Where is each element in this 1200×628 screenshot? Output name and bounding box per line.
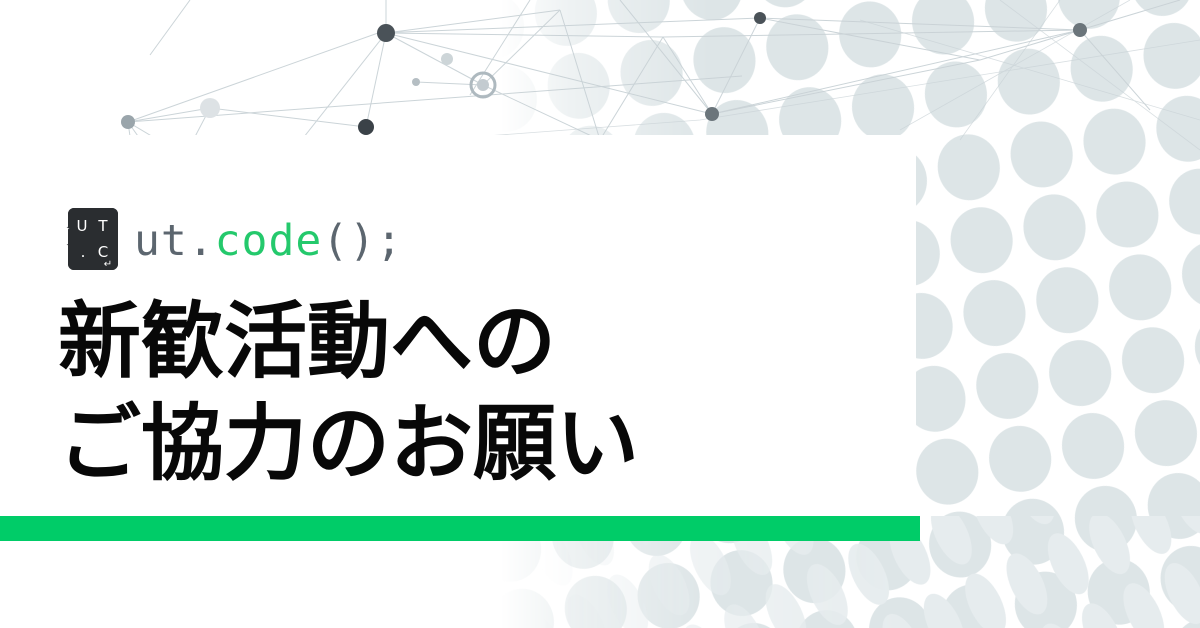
ogp-card: U T . C ↵ ut.code(); 新歓活動への ご協力のお願い	[0, 0, 1200, 628]
wordmark-prefix: ut.	[134, 216, 215, 266]
logo-letter-t: T	[97, 217, 108, 235]
logo-letter-dot: .	[81, 243, 86, 261]
wordmark-highlight: code	[215, 216, 323, 266]
page-title: 新歓活動への ご協力のお願い	[58, 292, 639, 493]
wordmark-suffix: ();	[322, 216, 403, 266]
utcode-logo-mark-icon: U T . C ↵	[62, 206, 120, 272]
brand-lockup: U T . C ↵ ut.code();	[62, 206, 403, 272]
logo-letter-u: U	[77, 217, 88, 235]
logo-return-arrow-icon: ↵	[104, 259, 112, 270]
brand-wordmark: ut.code();	[134, 220, 403, 263]
headline-line-2: ご協力のお願い	[58, 394, 639, 494]
headline-line-1: 新歓活動への	[58, 292, 639, 392]
accent-bar	[0, 516, 920, 541]
